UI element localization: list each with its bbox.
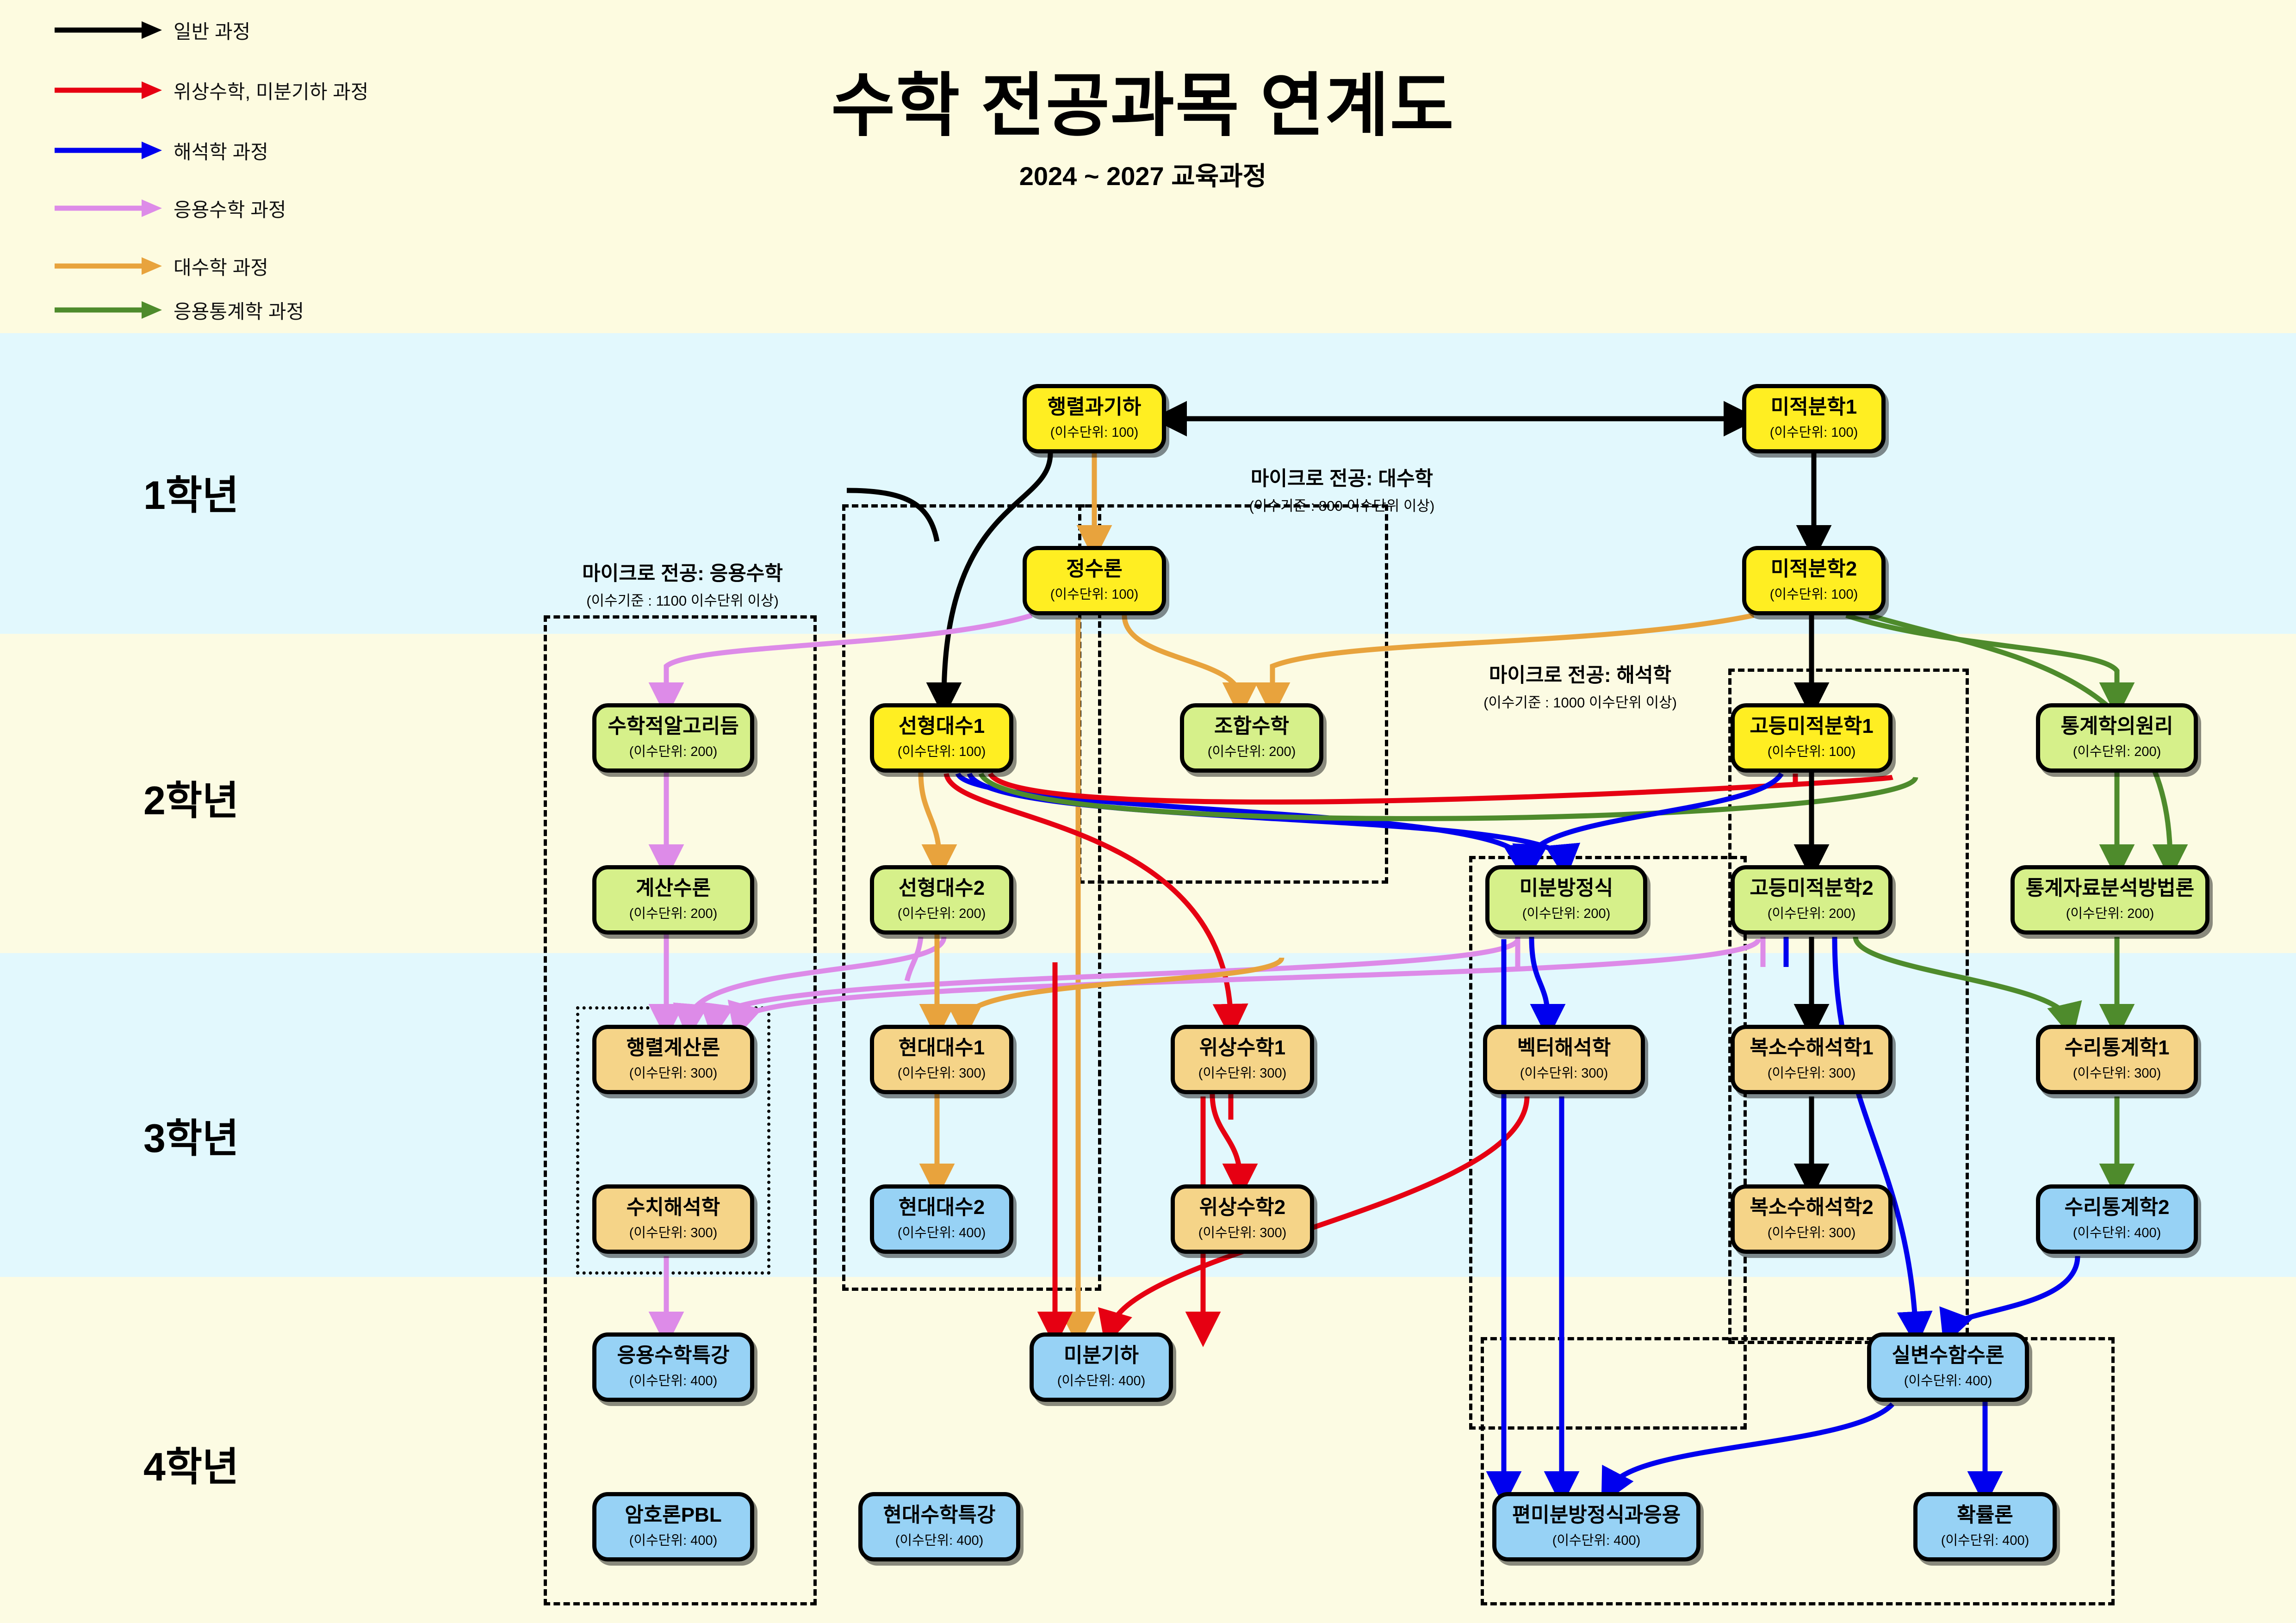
page-subtitle: 2024 ~ 2027 교육과정 <box>768 155 1518 193</box>
course-node-applied-math-topics[interactable]: 응용수학특강 (이수단위: 400) <box>592 1332 754 1402</box>
course-unit: (이수단위: 100) <box>1050 421 1139 441</box>
course-unit: (이수단위: 400) <box>1941 1530 2029 1549</box>
course-title: 조합수학 <box>1214 716 1289 737</box>
course-unit: (이수단위: 400) <box>629 1370 718 1389</box>
course-title: 고등미적분학1 <box>1750 716 1873 737</box>
course-title: 통계학의원리 <box>2061 716 2173 737</box>
course-title: 벡터해석학 <box>1517 1038 1611 1058</box>
course-unit: (이수단위: 100) <box>1770 583 1858 603</box>
course-title: 행렬계산론 <box>627 1038 720 1058</box>
legend-arrow-general <box>51 14 164 46</box>
course-node-combinatorics[interactable]: 조합수학 (이수단위: 200) <box>1180 703 1323 773</box>
course-title: 복소수해석학1 <box>1750 1038 1873 1058</box>
course-unit: (이수단위: 300) <box>1768 1222 1856 1241</box>
course-node-pde-and-applications[interactable]: 편미분방정식과응용 (이수단위: 400) <box>1492 1492 1700 1561</box>
course-title: 수리통계학1 <box>2065 1038 2170 1058</box>
course-node-linear-algebra-2[interactable]: 선형대수2 (이수단위: 200) <box>870 865 1013 935</box>
micro-major-label-analysis: 마이크로 전공: 해석학 (이수기준 : 1000 이수단위 이상) <box>1404 659 1756 712</box>
course-node-differential-equations[interactable]: 미분방정식 (이수단위: 200) <box>1485 865 1647 935</box>
course-node-principles-of-statistics[interactable]: 통계학의원리 (이수단위: 200) <box>2036 703 2198 773</box>
micro-major-title-analysis: 마이크로 전공: 해석학 <box>1404 659 1756 688</box>
course-unit: (이수단위: 400) <box>1904 1370 1992 1389</box>
course-node-modern-algebra-1[interactable]: 현대대수1 (이수단위: 300) <box>870 1025 1013 1094</box>
year-label-1: 1학년 <box>143 463 239 520</box>
course-unit: (이수단위: 400) <box>1057 1370 1146 1389</box>
course-title: 실변수함수론 <box>1892 1345 2004 1366</box>
course-title: 위상수학2 <box>1199 1197 1285 1218</box>
course-title: 미분기하 <box>1064 1345 1139 1366</box>
course-unit: (이수단위: 400) <box>898 1222 986 1241</box>
course-title: 미분방정식 <box>1520 878 1613 898</box>
legend-label-statistics: 응용통계학 과정 <box>174 296 304 324</box>
legend-label-algebra: 대수학 과정 <box>174 252 268 280</box>
course-unit: (이수단위: 200) <box>1768 903 1856 922</box>
course-unit: (이수단위: 300) <box>1520 1062 1608 1082</box>
year-label-2: 2학년 <box>143 768 239 826</box>
course-node-differential-geometry[interactable]: 미분기하 (이수단위: 400) <box>1030 1332 1173 1402</box>
legend-item-general: 일반 과정 <box>51 14 250 46</box>
course-title: 확률론 <box>1957 1505 2013 1525</box>
course-unit: (이수단위: 200) <box>1208 741 1296 760</box>
course-node-calculus-1[interactable]: 미적분학1 (이수단위: 100) <box>1742 384 1886 453</box>
course-title: 통계자료분석방법론 <box>2026 878 2194 898</box>
course-node-advanced-calculus-1[interactable]: 고등미적분학1 (이수단위: 100) <box>1731 703 1893 773</box>
course-unit: (이수단위: 200) <box>898 903 986 922</box>
course-unit: (이수단위: 300) <box>629 1062 718 1082</box>
legend-arrow-topology <box>51 74 164 106</box>
year-label-4: 4학년 <box>143 1434 239 1492</box>
course-title: 고등미적분학2 <box>1750 878 1873 898</box>
course-node-real-variable-functions[interactable]: 실변수함수론 (이수단위: 400) <box>1867 1332 2029 1402</box>
legend-arrow-analysis <box>51 134 164 167</box>
legend-item-statistics: 응용통계학 과정 <box>51 294 304 326</box>
course-title: 현대수학특강 <box>883 1505 996 1525</box>
course-node-cryptography-pbl[interactable]: 암호론PBL (이수단위: 400) <box>592 1492 754 1561</box>
course-title: 현대대수1 <box>899 1038 985 1058</box>
course-node-advanced-calculus-2[interactable]: 고등미적분학2 (이수단위: 200) <box>1731 865 1893 935</box>
year-label-3: 3학년 <box>143 1106 239 1164</box>
legend-item-topology: 위상수학, 미분기하 과정 <box>51 74 368 106</box>
micro-major-title-algebra: 마이크로 전공: 대수학 <box>1131 463 1552 491</box>
course-title: 편미분방정식과응용 <box>1512 1505 1681 1525</box>
course-node-probability-theory[interactable]: 확률론 (이수단위: 400) <box>1913 1492 2057 1561</box>
legend-item-algebra: 대수학 과정 <box>51 250 268 282</box>
course-node-complex-analysis-1[interactable]: 복소수해석학1 (이수단위: 300) <box>1731 1025 1893 1094</box>
legend-item-applied: 응용수학 과정 <box>51 192 286 224</box>
course-unit: (이수단위: 400) <box>2073 1222 2161 1241</box>
legend-label-applied: 응용수학 과정 <box>174 194 286 223</box>
legend-label-general: 일반 과정 <box>174 16 250 44</box>
legend: 일반 과정 위상수학, 미분기하 과정 해석학 과정 응용수학 과정 대수학 과 <box>0 0 509 324</box>
course-unit: (이수단위: 200) <box>2073 741 2161 760</box>
course-unit: (이수단위: 100) <box>1768 741 1856 760</box>
micro-major-criteria-algebra: (이수기준 : 800 이수단위 이상) <box>1131 494 1552 515</box>
legend-label-analysis: 해석학 과정 <box>174 136 268 165</box>
course-unit: (이수단위: 300) <box>2073 1062 2161 1082</box>
course-node-number-theory[interactable]: 정수론 (이수단위: 100) <box>1023 546 1166 615</box>
course-node-topology-1[interactable]: 위상수학1 (이수단위: 300) <box>1171 1025 1314 1094</box>
course-node-calculus-2[interactable]: 미적분학2 (이수단위: 100) <box>1742 546 1886 615</box>
micro-major-title-applied: 마이크로 전공: 응용수학 <box>507 558 858 586</box>
course-title: 수리통계학2 <box>2065 1197 2170 1218</box>
course-title: 수학적알고리듬 <box>608 716 738 737</box>
micro-major-label-applied: 마이크로 전공: 응용수학 (이수기준 : 1100 이수단위 이상) <box>507 558 858 610</box>
course-unit: (이수단위: 200) <box>1522 903 1611 922</box>
page-title: 수학 전공과목 연계도 <box>768 69 1518 142</box>
course-title: 응용수학특강 <box>617 1345 730 1366</box>
micro-major-label-algebra: 마이크로 전공: 대수학 (이수기준 : 800 이수단위 이상) <box>1131 463 1552 515</box>
course-unit: (이수단위: 200) <box>2066 903 2154 922</box>
legend-arrow-algebra <box>51 250 164 282</box>
course-unit: (이수단위: 300) <box>1198 1062 1287 1082</box>
course-title: 암호론PBL <box>625 1505 721 1525</box>
course-node-statistical-data-analysis[interactable]: 통계자료분석방법론 (이수단위: 200) <box>2011 865 2209 935</box>
course-title: 선형대수1 <box>899 716 985 737</box>
course-title: 행렬과기하 <box>1048 397 1141 417</box>
course-unit: (이수단위: 300) <box>1768 1062 1856 1082</box>
legend-label-topology: 위상수학, 미분기하 과정 <box>174 76 368 105</box>
legend-item-analysis: 해석학 과정 <box>51 134 268 167</box>
course-title: 선형대수2 <box>899 878 985 898</box>
course-title: 미적분학1 <box>1771 397 1857 417</box>
course-node-modern-math-topics[interactable]: 현대수학특강 (이수단위: 400) <box>858 1492 1020 1561</box>
course-node-mathematical-algorithms[interactable]: 수학적알고리듬 (이수단위: 200) <box>592 703 754 773</box>
course-title: 수치해석학 <box>627 1197 720 1218</box>
course-node-modern-algebra-2[interactable]: 현대대수2 (이수단위: 400) <box>870 1184 1013 1254</box>
course-unit: (이수단위: 200) <box>629 741 718 760</box>
micro-major-criteria-analysis: (이수기준 : 1000 이수단위 이상) <box>1404 691 1756 712</box>
course-title: 계산수론 <box>636 878 711 898</box>
course-node-mathematical-statistics-1[interactable]: 수리통계학1 (이수단위: 300) <box>2036 1025 2198 1094</box>
course-title: 현대대수2 <box>899 1197 985 1218</box>
course-node-linear-algebra-1[interactable]: 선형대수1 (이수단위: 100) <box>870 703 1013 773</box>
course-node-matrix-computation[interactable]: 행렬계산론 (이수단위: 300) <box>592 1025 754 1094</box>
course-unit: (이수단위: 100) <box>1770 421 1858 441</box>
course-unit: (이수단위: 400) <box>629 1530 718 1549</box>
course-unit: (이수단위: 100) <box>1050 583 1139 603</box>
course-unit: (이수단위: 400) <box>895 1530 984 1549</box>
course-node-computational-number-theory[interactable]: 계산수론 (이수단위: 200) <box>592 865 754 935</box>
course-node-topology-2[interactable]: 위상수학2 (이수단위: 300) <box>1171 1184 1314 1254</box>
course-title: 위상수학1 <box>1199 1038 1285 1058</box>
course-title: 미적분학2 <box>1771 559 1857 579</box>
course-node-matrix-geometry[interactable]: 행렬과기하 (이수단위: 100) <box>1023 384 1166 453</box>
course-node-mathematical-statistics-2[interactable]: 수리통계학2 (이수단위: 400) <box>2036 1184 2198 1254</box>
course-unit: (이수단위: 300) <box>1198 1222 1287 1241</box>
course-unit: (이수단위: 200) <box>629 903 718 922</box>
course-title: 복소수해석학2 <box>1750 1197 1873 1218</box>
course-unit: (이수단위: 100) <box>898 741 986 760</box>
course-node-vector-analysis[interactable]: 벡터해석학 (이수단위: 300) <box>1483 1025 1645 1094</box>
legend-arrow-applied <box>51 192 164 224</box>
course-title: 정수론 <box>1066 559 1122 579</box>
course-unit: (이수단위: 400) <box>1552 1530 1641 1549</box>
course-unit: (이수단위: 300) <box>629 1222 718 1241</box>
micro-major-criteria-applied: (이수기준 : 1100 이수단위 이상) <box>507 589 858 610</box>
course-unit: (이수단위: 300) <box>898 1062 986 1082</box>
legend-arrow-statistics <box>51 294 164 326</box>
course-node-complex-analysis-2[interactable]: 복소수해석학2 (이수단위: 300) <box>1731 1184 1893 1254</box>
title-block: 수학 전공과목 연계도 2024 ~ 2027 교육과정 <box>768 69 1518 193</box>
course-node-numerical-analysis[interactable]: 수치해석학 (이수단위: 300) <box>592 1184 754 1254</box>
